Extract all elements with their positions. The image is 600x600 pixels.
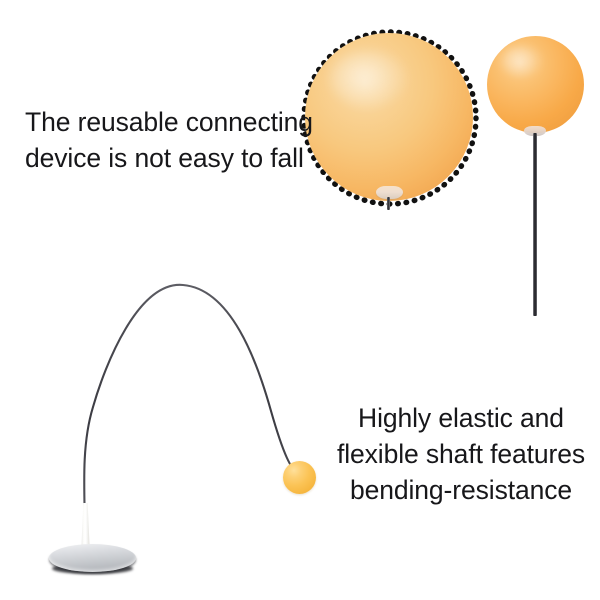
connector-pin-large bbox=[387, 197, 390, 210]
product-image-canvas: The reusable connecting device is not ea… bbox=[0, 0, 600, 600]
small-teaser-ball bbox=[283, 461, 316, 494]
large-ball bbox=[305, 33, 473, 201]
straight-shaft bbox=[533, 133, 537, 316]
right-ball bbox=[487, 36, 584, 133]
caption-elastic-shaft: Highly elastic and flexible shaft featur… bbox=[336, 400, 586, 508]
base-disc bbox=[49, 544, 136, 572]
caption-connecting-device: The reusable connecting device is not ea… bbox=[25, 104, 313, 176]
